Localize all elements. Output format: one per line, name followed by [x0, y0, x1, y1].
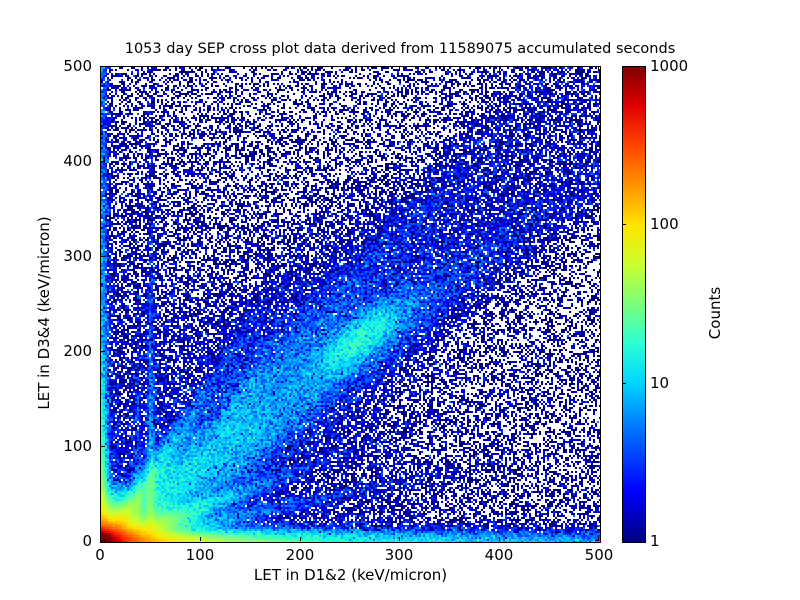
x-tick-label: 400 — [469, 546, 529, 564]
y-tick-mark — [101, 161, 105, 162]
y-tick-label: 200 — [48, 342, 92, 360]
x-tick-mark — [200, 537, 201, 541]
x-tick-label: 100 — [170, 546, 230, 564]
y-tick-label: 500 — [48, 57, 92, 75]
density-heatmap — [101, 67, 600, 542]
title-line-1: 1053 day SEP cross plot data derived fro… — [0, 41, 800, 59]
colorbar-title: Counts — [706, 173, 724, 453]
y-tick-label: 400 — [48, 152, 92, 170]
x-tick-mark — [399, 537, 400, 541]
colorbar-tick-label: 1 — [650, 532, 660, 550]
y-tick-mark — [595, 161, 599, 162]
y-tick-mark — [595, 66, 599, 67]
colorbar-tick-mark — [622, 383, 626, 384]
x-tick-mark — [200, 67, 201, 71]
y-tick-mark — [101, 256, 105, 257]
colorbar-gradient — [623, 67, 645, 542]
y-tick-label: 100 — [48, 437, 92, 455]
x-tick-mark — [499, 67, 500, 71]
y-tick-mark — [595, 540, 599, 541]
y-tick-label: 0 — [48, 532, 92, 550]
x-tick-label: 200 — [270, 546, 330, 564]
x-tick-label: 500 — [569, 546, 629, 564]
y-tick-mark — [595, 446, 599, 447]
figure-canvas: 1053 day SEP cross plot data derived fro… — [0, 0, 800, 600]
x-tick-mark — [399, 67, 400, 71]
x-tick-mark — [598, 67, 599, 71]
x-tick-label: 300 — [369, 546, 429, 564]
y-tick-mark — [101, 351, 105, 352]
x-tick-mark — [300, 67, 301, 71]
x-tick-mark — [100, 67, 101, 71]
colorbar-tick-label: 10 — [650, 374, 669, 392]
colorbar — [622, 66, 646, 543]
x-tick-mark — [300, 537, 301, 541]
x-tick-mark — [499, 537, 500, 541]
y-tick-label: 300 — [48, 247, 92, 265]
x-axis-title: LET in D1&2 (keV/micron) — [100, 566, 601, 584]
y-tick-mark — [101, 540, 105, 541]
colorbar-tick-mark — [622, 224, 626, 225]
colorbar-tick-label: 100 — [650, 215, 679, 233]
colorbar-tick-label: 1000 — [650, 57, 688, 75]
y-tick-mark — [595, 351, 599, 352]
y-tick-mark — [101, 446, 105, 447]
plot-area — [100, 66, 601, 543]
y-axis-title: LET in D3&4 (keV/micron) — [35, 123, 53, 503]
y-tick-mark — [595, 256, 599, 257]
y-tick-mark — [101, 66, 105, 67]
